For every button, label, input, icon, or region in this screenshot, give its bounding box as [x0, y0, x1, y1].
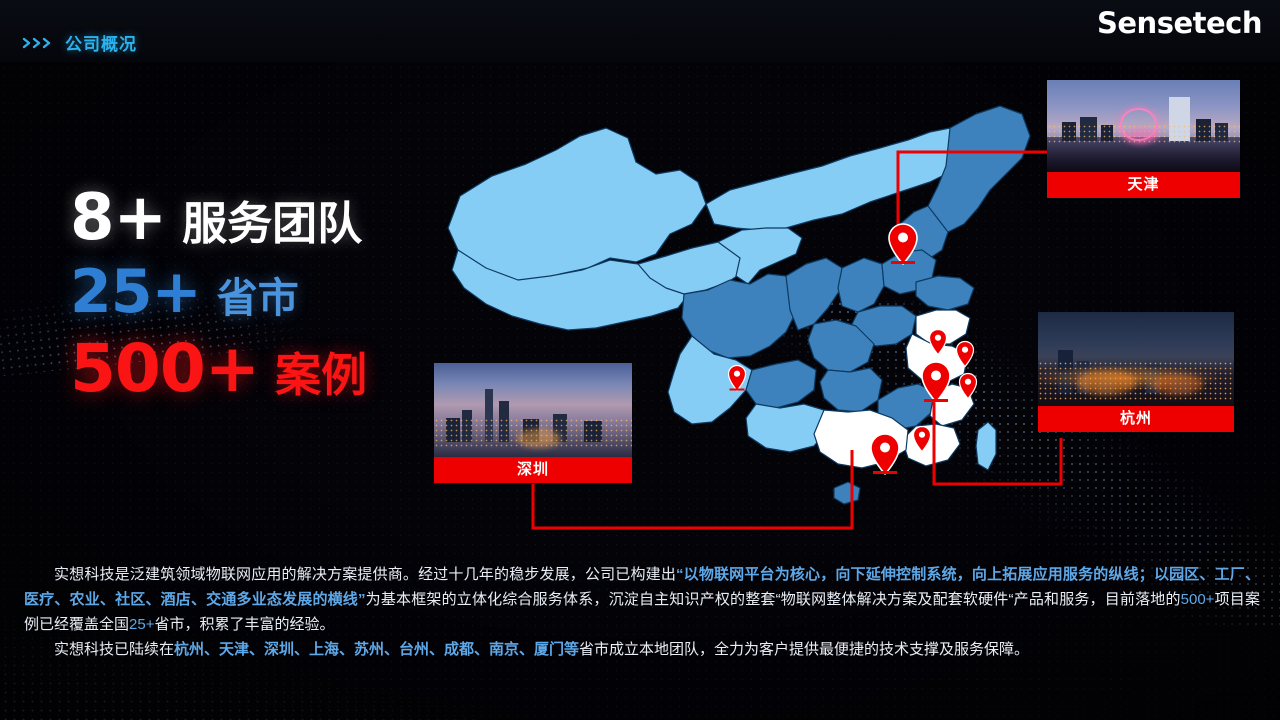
city-card-caption-shenzhen: 深圳: [434, 457, 632, 483]
page-title: 公司概况: [65, 30, 137, 55]
stat-row-provinces: 25+ 省市: [70, 262, 367, 322]
para2-city-list: 杭州、天津、深圳、上海、苏州、台州、成都、南京、厦门等: [174, 641, 579, 658]
city-photo-tianjin: [1047, 80, 1240, 172]
stat-label-provinces: 省市: [217, 278, 299, 319]
para1-number-provinces: 25+: [129, 616, 154, 633]
map-pin-taizhou[interactable]: [958, 372, 978, 400]
header-bar: [0, 0, 1280, 62]
city-card-caption-tianjin: 天津: [1047, 172, 1240, 198]
para1-number-cases: 500+: [1181, 591, 1215, 608]
city-card-hangzhou[interactable]: 杭州: [1038, 312, 1234, 432]
stat-label-cases: 案例: [275, 352, 367, 398]
stat-row-cases: 500+ 案例: [70, 336, 367, 402]
stat-row-teams: 8+ 服务团队: [70, 186, 367, 250]
slide-canvas: 公司概况 Sensetech 8+ 服务团队 25+ 省市 500+ 案例: [0, 0, 1280, 720]
statistics-block: 8+ 服务团队 25+ 省市 500+ 案例: [70, 186, 367, 408]
map-pin-hangzhou[interactable]: [920, 360, 952, 404]
city-card-caption-hangzhou: 杭州: [1038, 406, 1234, 432]
map-pin-tianjin[interactable]: [887, 222, 919, 266]
brand-logo: Sensetech: [1097, 6, 1262, 40]
map-pin-xiamen[interactable]: [912, 425, 932, 453]
city-card-tianjin[interactable]: 天津: [1047, 80, 1240, 198]
paragraph-1: 实想科技是泛建筑领域物联网应用的解决方案提供商。经过十几年的稳步发展，公司已构建…: [24, 562, 1260, 637]
map-pin-chengdu[interactable]: [727, 364, 747, 392]
city-photo-shenzhen: [434, 363, 632, 457]
stat-number-teams: 8+: [70, 186, 166, 250]
stat-number-cases: 500+: [70, 336, 259, 402]
paragraph-2: 实想科技已陆续在杭州、天津、深圳、上海、苏州、台州、成都、南京、厦门等省市成立本…: [24, 637, 1260, 662]
description-text: 实想科技是泛建筑领域物联网应用的解决方案提供商。经过十几年的稳步发展，公司已构建…: [24, 562, 1260, 662]
triple-chevron-right-icon: [22, 36, 56, 50]
para2-part-a: 实想科技已陆续在: [54, 641, 174, 658]
para1-part-b: 为基本框架的立体化综合服务体系，沉淀自主知识产权的整套“物联网整体解决方案及配套…: [366, 591, 1181, 608]
breadcrumb: 公司概况: [22, 30, 137, 55]
para1-part-d: 省市，积累了丰富的经验。: [154, 616, 334, 633]
city-photo-hangzhou: [1038, 312, 1234, 406]
para2-part-b: 省市成立本地团队，全力为客户提供最便捷的技术支撑及服务保障。: [579, 641, 1029, 658]
stat-number-provinces: 25+: [70, 262, 201, 322]
map-pin-shanghai[interactable]: [955, 340, 975, 368]
map-pin-shenzhen[interactable]: [869, 432, 901, 476]
city-card-shenzhen[interactable]: 深圳: [434, 363, 632, 483]
stat-label-teams: 服务团队: [182, 201, 362, 246]
map-pin-suzhou[interactable]: [928, 328, 948, 356]
para1-part-a: 实想科技是泛建筑领域物联网应用的解决方案提供商。经过十几年的稳步发展，公司已构建…: [54, 566, 676, 583]
